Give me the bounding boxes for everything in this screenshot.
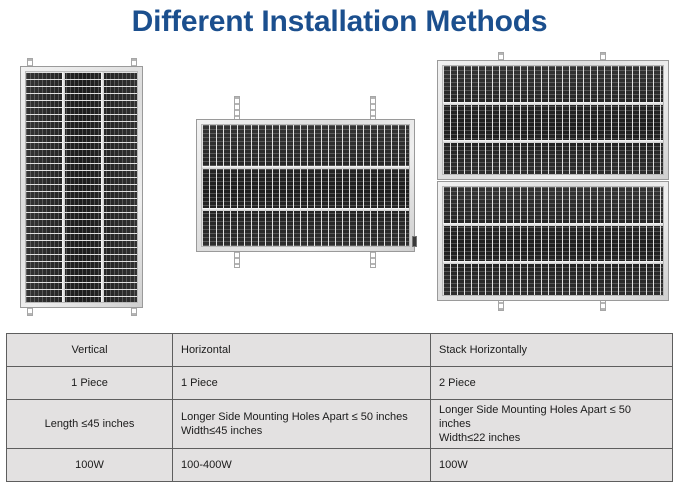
dimensions-stack-line2: Width≤22 inches	[439, 431, 664, 445]
column-header-horizontal: Horizontal	[173, 334, 431, 367]
power-horizontal: 100-400W	[173, 449, 431, 482]
quantity-horizontal: 1 Piece	[173, 367, 431, 400]
table-row-header: Vertical Horizontal Stack Horizontally	[7, 334, 673, 367]
stacked-panel-bottom-cell-field	[442, 186, 664, 296]
vertical-panel-rib-1	[62, 72, 65, 302]
table-row-dimensions: Length ≤45 inches Longer Side Mounting H…	[7, 400, 673, 449]
stacked-panel-bottom-rib-2	[443, 261, 663, 264]
horizontal-panel-rib-1	[202, 166, 409, 169]
power-stack: 100W	[431, 449, 673, 482]
quantity-stack: 2 Piece	[431, 367, 673, 400]
vertical-panel-cells	[26, 72, 137, 302]
horizontal-panel	[196, 119, 415, 252]
stacked-panel-top-cells	[443, 66, 663, 174]
dimensions-stack: Longer Side Mounting Holes Apart ≤ 50 in…	[431, 400, 673, 449]
stacked-panel-top	[437, 60, 669, 180]
stacked-panel-bottom-rib-1	[443, 223, 663, 226]
stacked-panel-top-rib-2	[443, 140, 663, 143]
dimensions-horizontal-line1: Longer Side Mounting Holes Apart ≤ 50 in…	[181, 410, 422, 424]
installation-spec-table: Vertical Horizontal Stack Horizontally 1…	[6, 333, 673, 482]
quantity-vertical: 1 Piece	[7, 367, 173, 400]
power-vertical: 100W	[7, 449, 173, 482]
stacked-panel-top-rib-1	[443, 102, 663, 105]
dimensions-horizontal: Longer Side Mounting Holes Apart ≤ 50 in…	[173, 400, 431, 449]
stacked-panel-bottom	[437, 181, 669, 301]
stacked-panel-bottom-cells	[443, 187, 663, 295]
dimensions-stack-line1: Longer Side Mounting Holes Apart ≤ 50 in…	[439, 403, 664, 431]
vertical-panel	[20, 66, 143, 308]
installation-illustration	[0, 46, 679, 331]
horizontal-panel-junction-box	[412, 236, 417, 247]
column-header-vertical: Vertical	[7, 334, 173, 367]
table-row-power: 100W 100-400W 100W	[7, 449, 673, 482]
column-header-stack: Stack Horizontally	[431, 334, 673, 367]
page-title: Different Installation Methods	[0, 2, 679, 42]
table-row-quantity: 1 Piece 1 Piece 2 Piece	[7, 367, 673, 400]
horizontal-panel-cells	[202, 125, 409, 246]
dimensions-vertical: Length ≤45 inches	[7, 400, 173, 449]
vertical-panel-rib-2	[101, 72, 104, 302]
stacked-panel-top-cell-field	[442, 65, 664, 175]
horizontal-panel-rib-2	[202, 208, 409, 211]
horizontal-panel-cell-field	[201, 124, 410, 247]
dimensions-horizontal-line2: Width≤45 inches	[181, 424, 422, 438]
vertical-panel-cell-field	[25, 71, 138, 303]
